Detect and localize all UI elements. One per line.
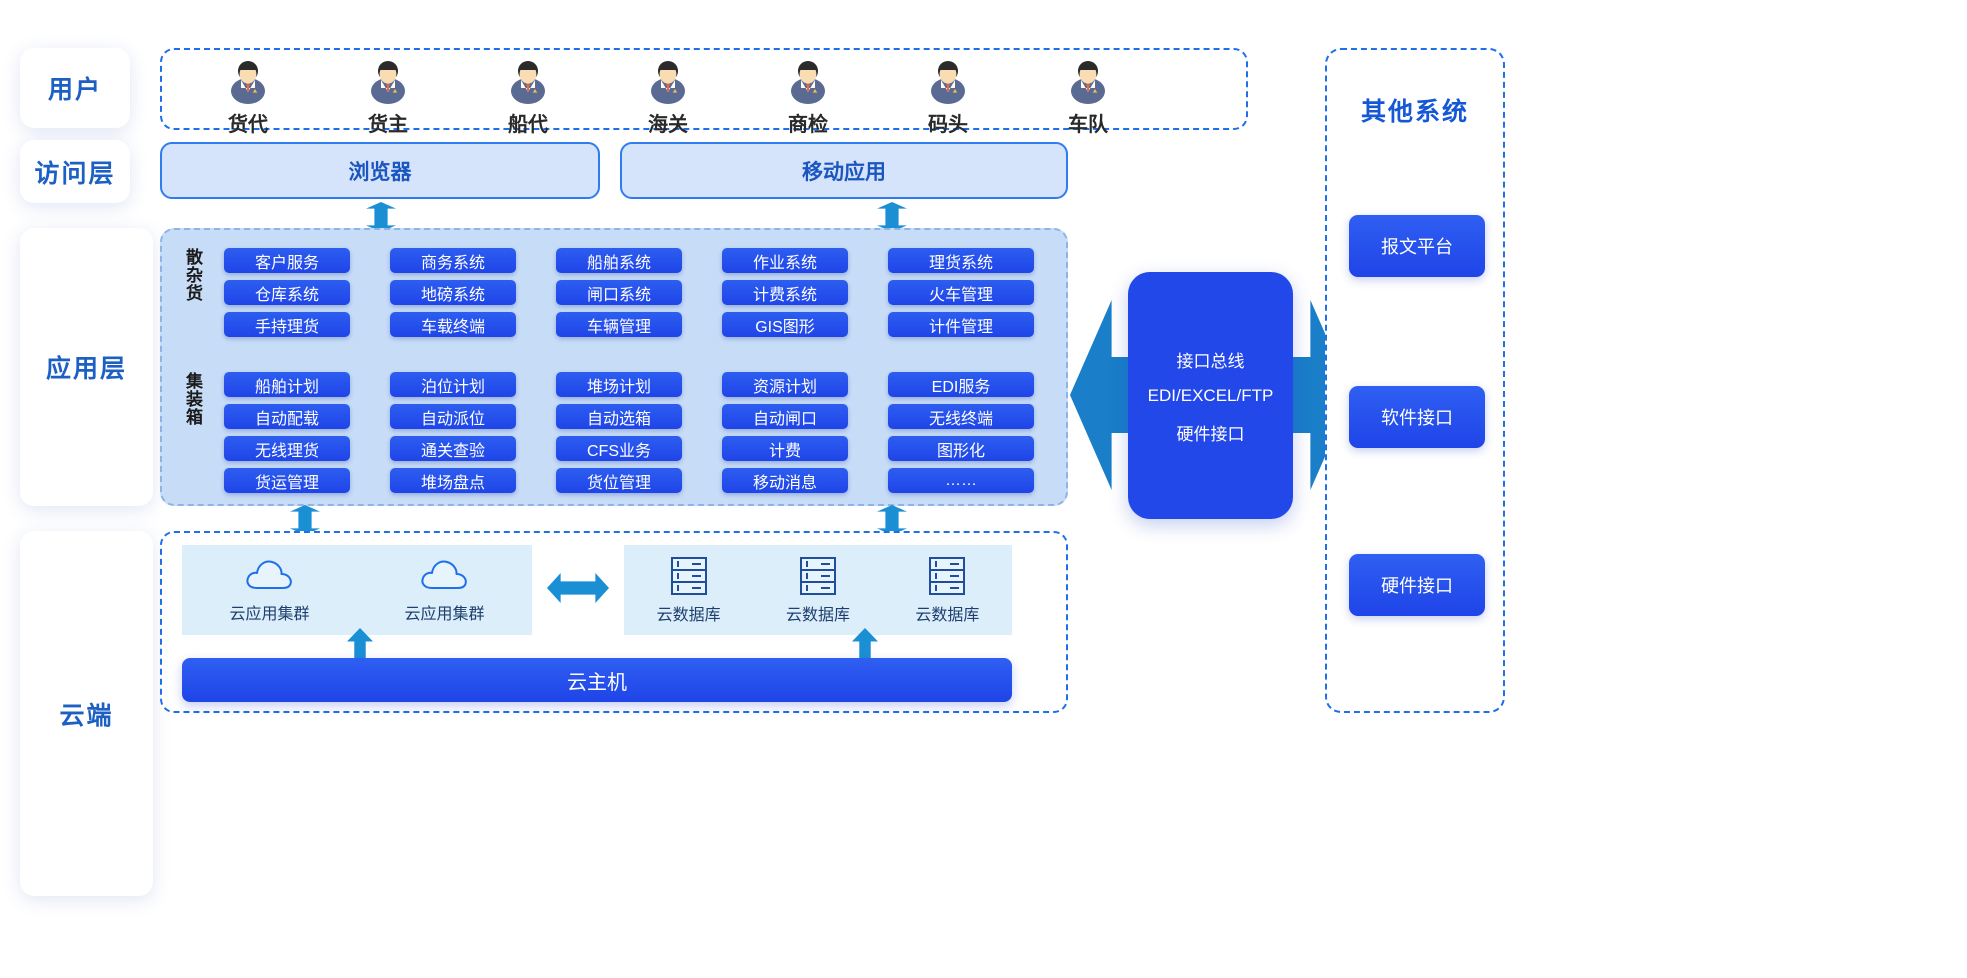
other-system-message-platform[interactable]: 报文平台 [1349, 215, 1485, 277]
app-module-label: 货位管理 [587, 469, 651, 493]
app-module-chip[interactable]: 计费系统 [722, 280, 848, 305]
app-module-label: 自动配载 [255, 405, 319, 429]
app-module-chip[interactable]: 仓库系统 [224, 280, 350, 305]
access-label: 移动应用 [802, 156, 886, 186]
app-module-chip[interactable]: 自动派位 [390, 404, 516, 429]
group-label-bulk: 散杂货 [184, 248, 201, 326]
cloud-host-label: 云主机 [567, 666, 627, 695]
app-module-label: 自动选箱 [587, 405, 651, 429]
layer-chip-cloud: 云端 [20, 531, 153, 896]
app-module-label: EDI服务 [932, 373, 991, 397]
app-module-chip[interactable]: 移动消息 [722, 468, 848, 493]
user-avatar-icon [506, 58, 550, 104]
user-item-6[interactable]: 码头 [900, 58, 996, 137]
app-module-chip[interactable]: EDI服务 [888, 372, 1034, 397]
app-module-label: 计费 [769, 437, 801, 461]
layer-label: 云端 [59, 696, 113, 732]
app-module-chip[interactable]: 计件管理 [888, 312, 1034, 337]
app-module-chip[interactable]: 作业系统 [722, 248, 848, 273]
app-module-label: 无线理货 [255, 437, 319, 461]
user-item-label: 码头 [928, 108, 968, 137]
cloud-database-group: 云数据库 云数据库 [624, 545, 1012, 635]
app-module-chip[interactable]: 船舶系统 [556, 248, 682, 273]
app-module-label: 通关查验 [421, 437, 485, 461]
application-panel: 散杂货 集装箱 客户服务商务系统船舶系统作业系统理货系统仓库系统地磅系统闸口系统… [160, 228, 1068, 506]
cloud-icon [243, 556, 295, 596]
app-module-chip[interactable]: 地磅系统 [390, 280, 516, 305]
cloud-item-label: 云应用集群 [229, 600, 309, 624]
app-module-label: …… [945, 472, 977, 490]
cloud-app-cluster-item: 云应用集群 [404, 556, 484, 624]
user-avatar-icon [926, 58, 970, 104]
access-label: 浏览器 [349, 156, 412, 186]
app-module-chip[interactable]: 资源计划 [722, 372, 848, 397]
other-system-label: 报文平台 [1381, 233, 1453, 259]
other-systems-panel: 其他系统 报文平台 软件接口 硬件接口 [1325, 48, 1505, 713]
app-module-chip[interactable]: 自动选箱 [556, 404, 682, 429]
app-module-chip[interactable]: 自动配载 [224, 404, 350, 429]
access-box-mobile-app[interactable]: 移动应用 [620, 142, 1068, 199]
user-item-7[interactable]: 车队 [1040, 58, 1136, 137]
app-module-chip[interactable]: 货运管理 [224, 468, 350, 493]
app-module-label: 无线终端 [929, 405, 993, 429]
user-item-label: 货主 [368, 108, 408, 137]
app-module-label: 资源计划 [753, 373, 817, 397]
cloud-app-cluster-item: 云应用集群 [229, 556, 309, 624]
app-module-label: 仓库系统 [255, 281, 319, 305]
user-avatar-icon [226, 58, 270, 104]
cloud-panel: 云应用集群 云应用集群 [160, 531, 1068, 713]
app-module-chip[interactable]: 理货系统 [888, 248, 1034, 273]
user-avatar-icon [786, 58, 830, 104]
cloud-item-label: 云数据库 [657, 601, 721, 625]
app-module-label: 火车管理 [929, 281, 993, 305]
app-module-chip[interactable]: 计费 [722, 436, 848, 461]
cloud-app-cluster-group: 云应用集群 云应用集群 [182, 545, 532, 635]
user-avatar-icon [366, 58, 410, 104]
app-module-chip[interactable]: 无线理货 [224, 436, 350, 461]
user-item-label: 货代 [228, 108, 268, 137]
layer-chip-users: 用户 [20, 48, 130, 128]
app-module-label: 堆场计划 [587, 373, 651, 397]
user-item-5[interactable]: 商检 [760, 58, 856, 137]
cloud-database-item: 云数据库 [657, 555, 721, 625]
user-item-label: 车队 [1068, 108, 1108, 137]
app-module-label: 船舶系统 [587, 249, 651, 273]
layer-chip-application: 应用层 [20, 228, 153, 506]
app-module-label: 车辆管理 [587, 313, 651, 337]
layer-label: 用户 [48, 70, 102, 106]
app-module-chip[interactable]: GIS图形 [722, 312, 848, 337]
database-rack-icon [927, 555, 967, 597]
user-avatar-icon [646, 58, 690, 104]
app-module-label: 自动闸口 [753, 405, 817, 429]
bus-line-3: 硬件接口 [1177, 420, 1245, 445]
app-module-chip[interactable]: 火车管理 [888, 280, 1034, 305]
app-module-label: 车载终端 [421, 313, 485, 337]
app-module-chip[interactable]: 闸口系统 [556, 280, 682, 305]
other-system-software-interface[interactable]: 软件接口 [1349, 386, 1485, 448]
app-module-chip[interactable]: 通关查验 [390, 436, 516, 461]
app-module-label: 船舶计划 [255, 373, 319, 397]
cloud-database-item: 云数据库 [915, 555, 979, 625]
cloud-item-label: 云数据库 [786, 601, 850, 625]
app-module-label: 手持理货 [255, 313, 319, 337]
user-item-label: 船代 [508, 108, 548, 137]
app-module-chip[interactable]: 自动闸口 [722, 404, 848, 429]
layer-label: 访问层 [34, 154, 115, 190]
cloud-item-label: 云数据库 [915, 601, 979, 625]
interface-bus-card: 接口总线 EDI/EXCEL/FTP 硬件接口 [1128, 272, 1293, 519]
layer-label: 应用层 [46, 349, 127, 385]
bus-line-2: EDI/EXCEL/FTP [1148, 386, 1274, 406]
app-module-label: 泊位计划 [421, 373, 485, 397]
app-module-label: 货运管理 [255, 469, 319, 493]
app-module-label: 地磅系统 [421, 281, 485, 305]
user-item-2[interactable]: 货主 [340, 58, 436, 137]
cloud-item-label: 云应用集群 [404, 600, 484, 624]
app-module-label: 移动消息 [753, 469, 817, 493]
layer-chip-access: 访问层 [20, 140, 130, 203]
app-module-chip[interactable]: 车辆管理 [556, 312, 682, 337]
app-module-label: 堆场盘点 [421, 469, 485, 493]
app-module-chip[interactable]: 堆场盘点 [390, 468, 516, 493]
app-module-label: 闸口系统 [587, 281, 651, 305]
user-item-label: 商检 [788, 108, 828, 137]
other-system-label: 软件接口 [1381, 404, 1453, 430]
architecture-diagram: 用户 访问层 应用层 云端 货代货主船代海关商检码头车队 浏览器 移动应用 散杂… [0, 0, 1967, 978]
app-module-chip[interactable]: 船舶计划 [224, 372, 350, 397]
app-module-label: GIS图形 [755, 313, 815, 337]
app-module-chip[interactable]: 货位管理 [556, 468, 682, 493]
group-label-container: 集装箱 [184, 372, 201, 472]
app-module-chip[interactable]: 商务系统 [390, 248, 516, 273]
app-module-label: 自动派位 [421, 405, 485, 429]
app-module-label: 客户服务 [255, 249, 319, 273]
user-item-label: 海关 [648, 108, 688, 137]
app-module-label: 作业系统 [753, 249, 817, 273]
app-module-chip[interactable]: 图形化 [888, 436, 1034, 461]
arrow-cloud-apps-to-databases [547, 573, 609, 603]
app-module-chip[interactable]: 车载终端 [390, 312, 516, 337]
app-module-label: 计费系统 [753, 281, 817, 305]
app-module-chip[interactable]: 手持理货 [224, 312, 350, 337]
user-avatar-icon [1066, 58, 1110, 104]
access-box-browser[interactable]: 浏览器 [160, 142, 600, 199]
user-item-4[interactable]: 海关 [620, 58, 716, 137]
app-module-chip[interactable]: 泊位计划 [390, 372, 516, 397]
app-module-label: CFS业务 [587, 437, 651, 461]
app-module-label: 计件管理 [929, 313, 993, 337]
database-rack-icon [798, 555, 838, 597]
user-item-1[interactable]: 货代 [200, 58, 296, 137]
other-system-label: 硬件接口 [1381, 572, 1453, 598]
app-module-chip[interactable]: 堆场计划 [556, 372, 682, 397]
user-item-3[interactable]: 船代 [480, 58, 576, 137]
app-module-label: 图形化 [937, 437, 985, 461]
database-rack-icon [669, 555, 709, 597]
app-module-chip[interactable]: …… [888, 468, 1034, 493]
app-module-chip[interactable]: 客户服务 [224, 248, 350, 273]
bus-line-1: 接口总线 [1177, 347, 1245, 372]
app-module-chip[interactable]: CFS业务 [556, 436, 682, 461]
cloud-icon [418, 556, 470, 596]
app-module-chip[interactable]: 无线终端 [888, 404, 1034, 429]
app-module-label: 理货系统 [929, 249, 993, 273]
app-module-label: 商务系统 [421, 249, 485, 273]
other-systems-title: 其他系统 [1327, 92, 1503, 128]
other-system-hardware-interface[interactable]: 硬件接口 [1349, 554, 1485, 616]
cloud-host-bar: 云主机 [182, 658, 1012, 702]
cloud-database-item: 云数据库 [786, 555, 850, 625]
